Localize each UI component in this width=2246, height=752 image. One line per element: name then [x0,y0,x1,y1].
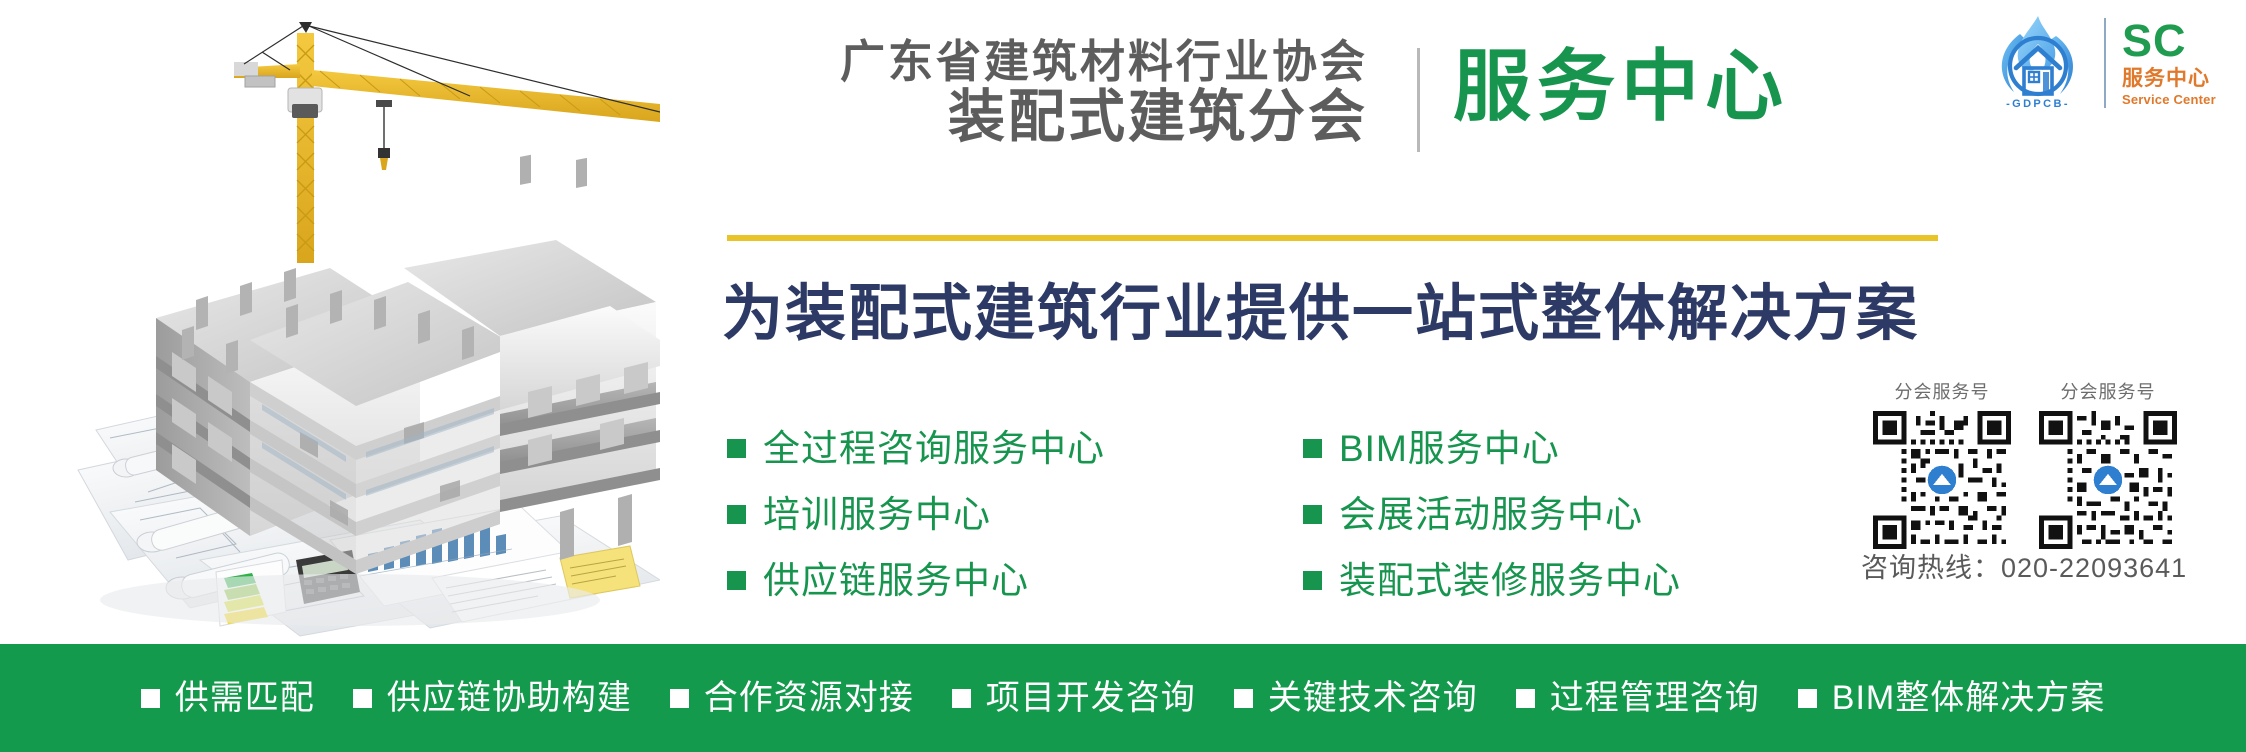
sc-abbreviation: SC [2122,20,2216,63]
qr-code-block-2[interactable]: 分会服务号 [2039,378,2177,549]
qr-code-block-1[interactable]: 分会服务号 [1873,378,2011,549]
footer-item[interactable]: 过程管理咨询 [1497,681,1779,715]
footer-item-label: 合作资源对接 [704,681,914,715]
square-bullet-icon [952,689,971,708]
footer-item-label: 供应链协助构建 [387,681,632,715]
footer-item[interactable]: 供应链协助构建 [334,681,651,715]
qr-code-caption: 分会服务号 [1873,378,2011,404]
square-bullet-icon [1516,689,1535,708]
qr-code-caption: 分会服务号 [2039,378,2177,404]
footer-item-label: 关键技术咨询 [1268,681,1478,715]
service-center-list-right: BIM服务中心 会展活动服务中心 装配式装修服务中心 [1303,415,1681,613]
square-bullet-icon [727,439,746,458]
square-bullet-icon [670,689,689,708]
footer-item-label: BIM整体解决方案 [1832,681,2105,715]
service-center-label: 培训服务中心 [763,496,991,533]
service-center-label: 会展活动服务中心 [1339,496,1643,533]
service-center-list-left: 全过程咨询服务中心 培训服务中心 供应链服务中心 [727,415,1105,613]
hotline-text: 咨询热线：020-22093641 [1861,546,2187,585]
service-center-label: 全过程咨询服务中心 [763,430,1105,467]
sc-english-label: Service Center [2122,92,2216,108]
service-center-title: 服务中心 [1453,46,1789,128]
qr-code-official-account-2[interactable] [2039,411,2177,549]
qr-code-official-account-1[interactable] [1873,411,2011,549]
construction-illustration [0,0,660,640]
association-name: 广东省建筑材料行业协会 [840,38,1368,85]
square-bullet-icon [727,571,746,590]
service-center-item[interactable]: 供应链服务中心 [727,547,1105,613]
service-center-item[interactable]: BIM服务中心 [1303,415,1681,481]
footer-item-label: 项目开发咨询 [986,681,1196,715]
footer-item-label: 供需匹配 [175,681,315,715]
square-bullet-icon [353,689,372,708]
title-divider [1417,48,1420,152]
service-center-item[interactable]: 会展活动服务中心 [1303,481,1681,547]
gdpcb-flame-house-icon [1986,14,2090,100]
square-bullet-icon [1234,689,1253,708]
page-headline: 为装配式建筑行业提供一站式整体解决方案 [722,263,1919,352]
gdpcb-logo[interactable]: -GDPCB- [1986,14,2090,110]
tower-crane [234,22,660,263]
square-bullet-icon [1798,689,1817,708]
service-center-item[interactable]: 装配式装修服务中心 [1303,547,1681,613]
qr-code-area: 分会服务号 [1873,378,2177,549]
footer-item[interactable]: 供需匹配 [122,681,334,715]
association-branch: 装配式建筑分会 [840,87,1368,149]
service-center-item[interactable]: 全过程咨询服务中心 [727,415,1105,481]
footer-items: 供需匹配 供应链协助构建 合作资源对接 项目开发咨询 关键技术咨询 过程管理咨询 [122,681,2124,715]
square-bullet-icon [1303,571,1322,590]
logo-lockup[interactable]: -GDPCB- SC 服务中心 Service Center [1986,14,2216,110]
square-bullet-icon [1303,505,1322,524]
square-bullet-icon [727,505,746,524]
construction-illustration-svg [0,0,660,640]
footer-item[interactable]: 合作资源对接 [651,681,933,715]
banner-root: 广东省建筑材料行业协会 装配式建筑分会 服务中心 为装配式建筑行业提供一站式整体… [0,0,2246,752]
service-center-label: 供应链服务中心 [763,562,1029,599]
service-center-item[interactable]: 培训服务中心 [727,481,1105,547]
gdpcb-caption: -GDPCB- [1986,98,2090,110]
footer-item-label: 过程管理咨询 [1550,681,1760,715]
footer-item[interactable]: 关键技术咨询 [1215,681,1497,715]
association-title: 广东省建筑材料行业协会 装配式建筑分会 [840,38,1368,149]
ground-shadow [100,574,600,626]
footer-item[interactable]: BIM整体解决方案 [1779,681,2124,715]
service-center-label: 装配式装修服务中心 [1339,562,1681,599]
footer-bar: 供需匹配 供应链协助构建 合作资源对接 项目开发咨询 关键技术咨询 过程管理咨询 [0,644,2246,752]
square-bullet-icon [1303,439,1322,458]
footer-item[interactable]: 项目开发咨询 [933,681,1215,715]
square-bullet-icon [141,689,160,708]
logo-divider [2104,18,2106,108]
service-center-label: BIM服务中心 [1339,430,1560,467]
sc-chinese-label: 服务中心 [2122,66,2216,91]
yellow-divider-rule [727,235,1938,241]
sc-logo[interactable]: SC 服务中心 Service Center [2122,14,2216,108]
